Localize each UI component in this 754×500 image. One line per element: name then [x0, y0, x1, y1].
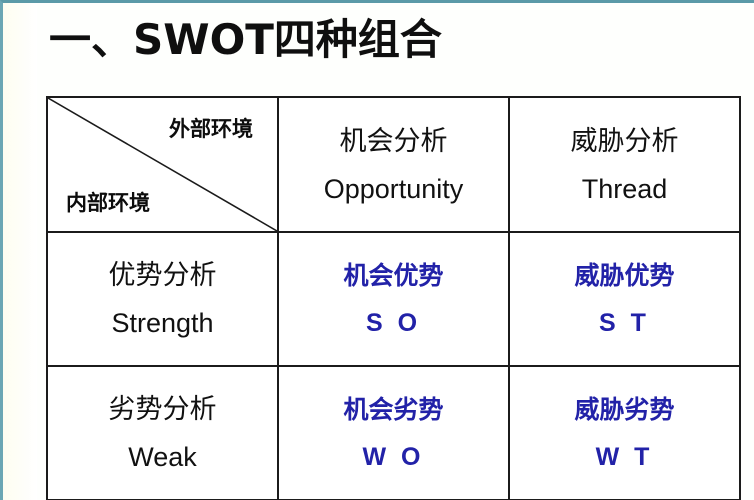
row-header-weak-en: Weak [48, 441, 277, 473]
matrix-cell-st: 威胁优势 S T [509, 232, 740, 366]
matrix-cell-wo-code: W O [279, 442, 508, 472]
matrix-cell-so: 机会优势 S O [278, 232, 509, 366]
column-header-opportunity-cn: 机会分析 [279, 125, 508, 159]
table-row-weak: 劣势分析 Weak 机会劣势 W O 威胁劣势 W T [47, 366, 740, 500]
column-header-opportunity-en: Opportunity [279, 173, 508, 205]
swot-matrix-table: 外部环境 内部环境 机会分析 Opportunity 威胁分析 Thread 优… [46, 96, 741, 500]
matrix-cell-st-code: S T [510, 308, 739, 338]
matrix-cell-so-code: S O [279, 308, 508, 338]
column-header-opportunity: 机会分析 Opportunity [278, 97, 509, 232]
row-header-weak-cn: 劣势分析 [48, 393, 277, 427]
matrix-cell-wo-cn: 机会劣势 [279, 394, 508, 426]
column-header-threat: 威胁分析 Thread [509, 97, 740, 232]
matrix-cell-wt-code: W T [510, 442, 739, 472]
column-header-threat-en: Thread [510, 173, 739, 205]
row-header-strength-cn: 优势分析 [48, 259, 277, 293]
table-row-strength: 优势分析 Strength 机会优势 S O 威胁优势 S T [47, 232, 740, 366]
row-header-strength: 优势分析 Strength [47, 232, 278, 366]
matrix-corner-cell: 外部环境 内部环境 [47, 97, 278, 232]
matrix-cell-wo: 机会劣势 W O [278, 366, 509, 500]
row-header-weak: 劣势分析 Weak [47, 366, 278, 500]
page-title: 一、SWOT四种组合 [49, 15, 442, 65]
column-header-threat-cn: 威胁分析 [510, 125, 739, 159]
matrix-cell-wt: 威胁劣势 W T [509, 366, 740, 500]
outer-environment-label: 外部环境 [163, 116, 259, 143]
table-row-header: 外部环境 内部环境 机会分析 Opportunity 威胁分析 Thread [47, 97, 740, 232]
matrix-cell-wt-cn: 威胁劣势 [510, 394, 739, 426]
inner-environment-label: 内部环境 [60, 190, 156, 217]
matrix-cell-so-cn: 机会优势 [279, 260, 508, 292]
row-header-strength-en: Strength [48, 307, 277, 339]
matrix-cell-st-cn: 威胁优势 [510, 260, 739, 292]
slide-canvas: 一、SWOT四种组合 外部环境 内部环境 机会分析 Opportunity 威胁… [0, 0, 754, 500]
